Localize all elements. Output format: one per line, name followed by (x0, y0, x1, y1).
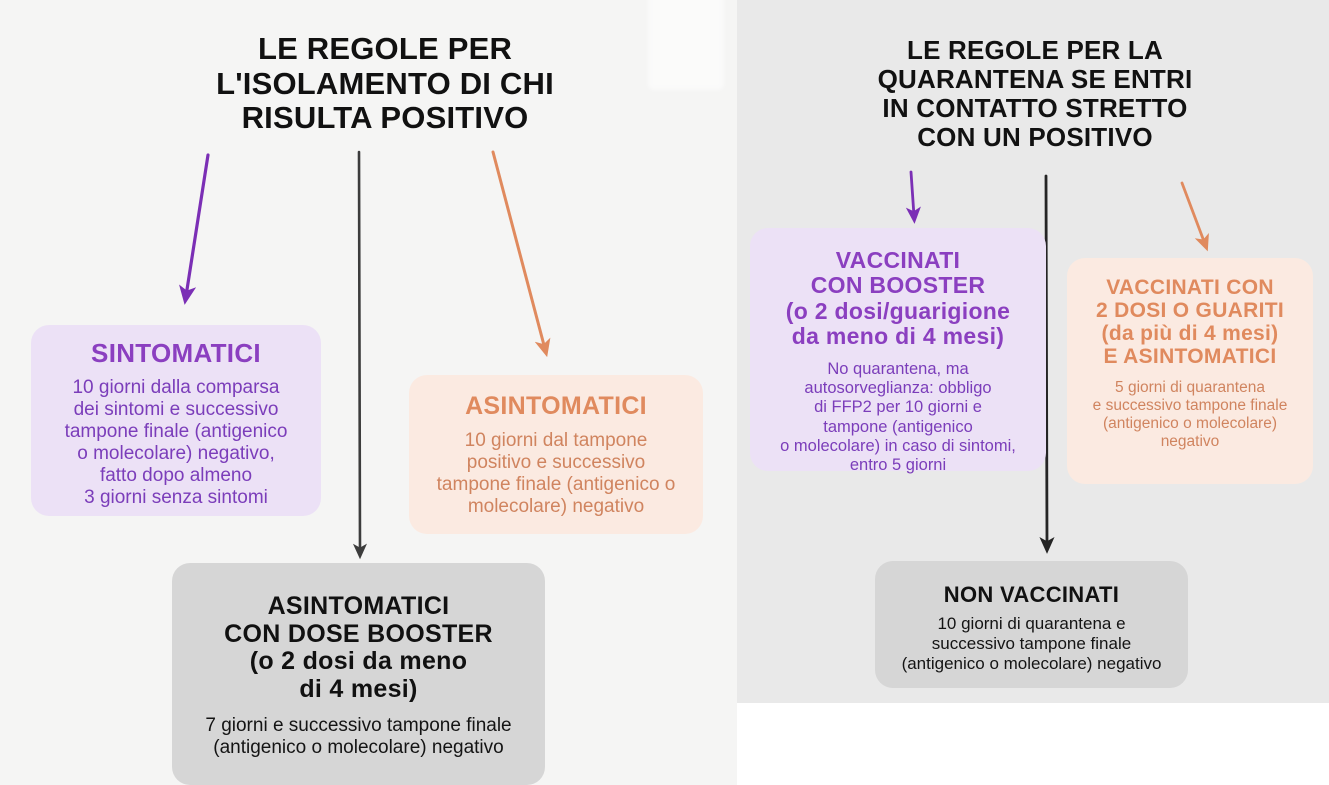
box-asintomatici-body: 10 giorni dal tampone positivo e success… (421, 430, 691, 518)
box-vaccinati-booster-body: No quarantena, ma autosorveglianza: obbl… (762, 360, 1034, 475)
infographic-canvas: LE REGOLE PER L'ISOLAMENTO DI CHI RISULT… (0, 0, 1329, 785)
box-non-vaccinati[interactable]: NON VACCINATI 10 giorni di quarantena e … (875, 561, 1188, 688)
watermark-ghost (648, 0, 724, 90)
box-asintomatici-title: ASINTOMATICI (421, 393, 691, 421)
box-sintomatici-title: SINTOMATICI (43, 339, 309, 368)
box-sintomatici-body: 10 giorni dalla comparsa dei sintomi e s… (43, 377, 309, 509)
box-sintomatici[interactable]: SINTOMATICI 10 giorni dalla comparsa dei… (31, 325, 321, 516)
box-non-vaccinati-title: NON VACCINATI (887, 583, 1176, 607)
box-vaccinati-con-booster[interactable]: VACCINATI CON BOOSTER (o 2 dosi/guarigio… (750, 228, 1046, 471)
right-panel-title: LE REGOLE PER LA QUARANTENA SE ENTRI IN … (820, 36, 1250, 152)
right-panel-white-strip (737, 703, 1329, 785)
box-asintomatici-booster-title: ASINTOMATICI CON DOSE BOOSTER (o 2 dosi … (184, 593, 533, 703)
box-vaccinati-2dosi-title: VACCINATI CON 2 DOSI O GUARITI (da più d… (1079, 276, 1301, 368)
box-asintomatici[interactable]: ASINTOMATICI 10 giorni dal tampone posit… (409, 375, 703, 534)
box-vaccinati-2-dosi-o-guariti[interactable]: VACCINATI CON 2 DOSI O GUARITI (da più d… (1067, 258, 1313, 484)
box-asintomatici-booster-body: 7 giorni e successivo tampone finale (an… (184, 715, 533, 759)
box-vaccinati-booster-title: VACCINATI CON BOOSTER (o 2 dosi/guarigio… (762, 248, 1034, 349)
box-vaccinati-2dosi-body: 5 giorni di quarantena e successivo tamp… (1079, 379, 1301, 451)
box-non-vaccinati-body: 10 giorni di quarantena e successivo tam… (887, 614, 1176, 673)
box-asintomatici-con-dose-booster[interactable]: ASINTOMATICI CON DOSE BOOSTER (o 2 dosi … (172, 563, 545, 785)
left-panel-title: LE REGOLE PER L'ISOLAMENTO DI CHI RISULT… (150, 32, 620, 136)
